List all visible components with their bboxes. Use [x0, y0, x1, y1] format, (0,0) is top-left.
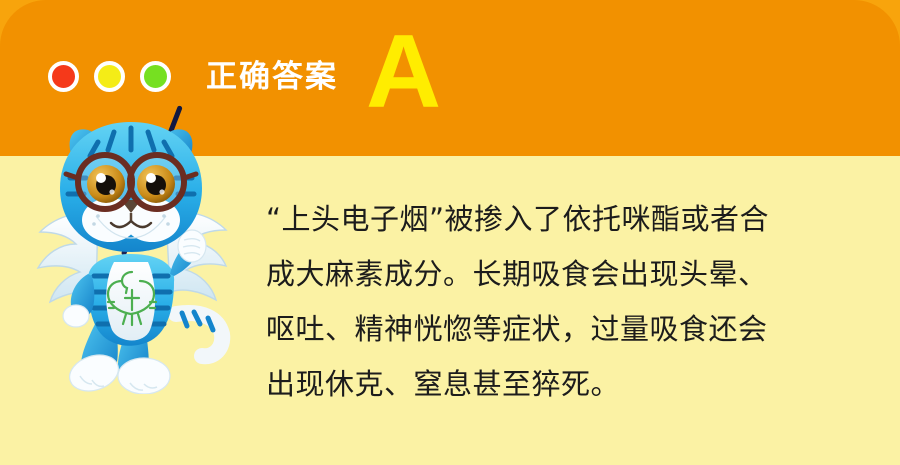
traffic-light-dots: [48, 61, 171, 92]
correct-answer-label: 正确答案: [206, 58, 338, 96]
yellow-dot-icon: [94, 61, 125, 92]
tiger-mascot: [26, 104, 236, 394]
answer-explanation-text: “上头电子烟”被掺入了依托咪酯或者合 成大麻素成分。长期吸食会出现头晕、 呕吐、…: [266, 192, 876, 412]
answer-letter: A: [366, 20, 441, 124]
hand-left: [63, 305, 89, 327]
text-line: 出现休克、窒息甚至猝死。: [266, 357, 876, 412]
red-dot-icon: [48, 61, 79, 92]
text-line: “上头电子烟”被掺入了依托咪酯或者合: [266, 192, 876, 247]
green-dot-icon: [140, 61, 171, 92]
text-line: 呕吐、精神恍惚等症状，过量吸食还会: [266, 302, 876, 357]
text-line: 成大麻素成分。长期吸食会出现头晕、: [266, 247, 876, 302]
answer-card: 正确答案 A: [0, 0, 900, 465]
foot-right: [118, 358, 170, 394]
